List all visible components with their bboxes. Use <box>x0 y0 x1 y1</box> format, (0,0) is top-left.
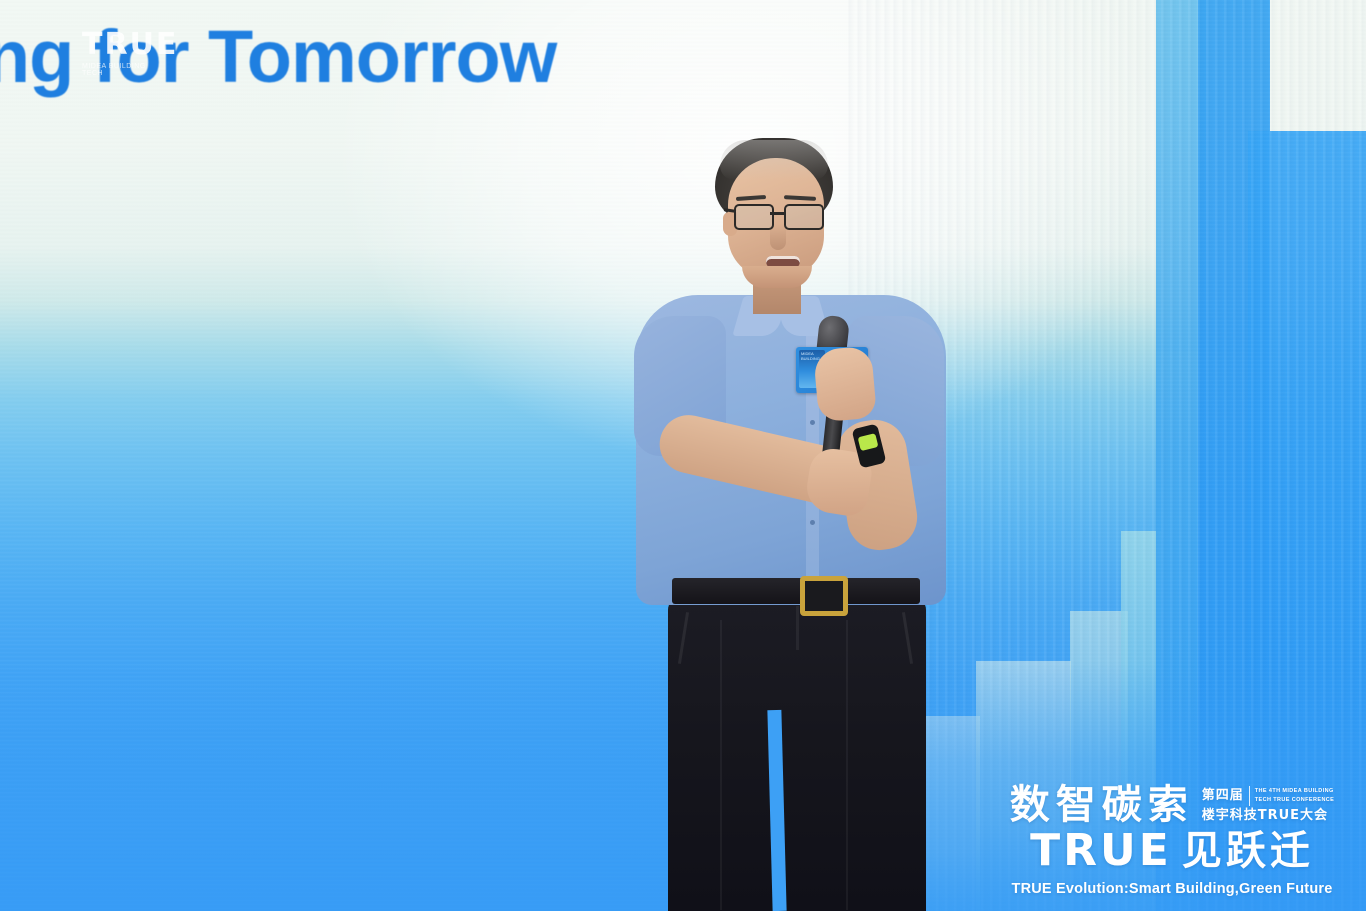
glasses-bridge <box>770 212 784 215</box>
hand-right <box>813 346 877 423</box>
logo-secondary-row: TRUE 见跃迁 <box>994 829 1350 873</box>
logo-meta-top: 第四届 THE 4TH MIDEA BUILDING TECH TRUE CON… <box>1202 786 1335 806</box>
glasses-lens-left <box>734 204 774 230</box>
stage-photo: ilding for Tomorrow TRUE MIDEA BUILDING … <box>0 0 1366 911</box>
hair-highlight <box>720 140 828 180</box>
shirt-button <box>810 520 815 525</box>
logo-edition-cn: 第四届 <box>1202 788 1244 803</box>
logo-true-wordmark: TRUE <box>1030 829 1172 873</box>
glasses-lens-right <box>784 204 824 230</box>
speaker-figure: MIDEA BUILDING TRUE MIDEA BUILDING TECH <box>620 120 960 911</box>
screen-watermark-logo: TRUE MIDEA BUILDING TECH <box>82 30 168 92</box>
logo-meta: 第四届 THE 4TH MIDEA BUILDING TECH TRUE CON… <box>1202 786 1335 825</box>
logo-cn-sub: 见跃迁 <box>1182 831 1314 871</box>
watch-face <box>858 433 879 451</box>
nose <box>770 224 786 250</box>
logo-tagline: TRUE Evolution:Smart Building,Green Futu… <box>994 881 1350 897</box>
logo-en-line2: TECH TRUE CONFERENCE <box>1255 796 1335 804</box>
logo-meta-en: THE 4TH MIDEA BUILDING TECH TRUE CONFERE… <box>1255 787 1335 804</box>
watermark-subtitle: MIDEA BUILDING TECH <box>82 63 168 77</box>
logo-cn-main: 数智碳索 <box>1010 785 1194 825</box>
trouser-crease <box>846 620 848 910</box>
logo-divider <box>1249 786 1250 806</box>
belt-buckle <box>800 576 848 616</box>
watermark-wordmark: TRUE <box>82 30 168 60</box>
chin <box>742 266 812 288</box>
trouser-fly <box>796 606 799 650</box>
logo-primary-row: 数智碳索 第四届 THE 4TH MIDEA BUILDING TECH TRU… <box>994 785 1350 825</box>
event-logo: 数智碳索 第四届 THE 4TH MIDEA BUILDING TECH TRU… <box>994 785 1350 897</box>
trouser-crease <box>720 620 722 910</box>
belt <box>672 578 920 604</box>
logo-en-line1: THE 4TH MIDEA BUILDING <box>1255 787 1335 795</box>
logo-conference-cn: 楼宇科技TRUE大会 <box>1202 808 1335 823</box>
shirt-button <box>810 420 815 425</box>
